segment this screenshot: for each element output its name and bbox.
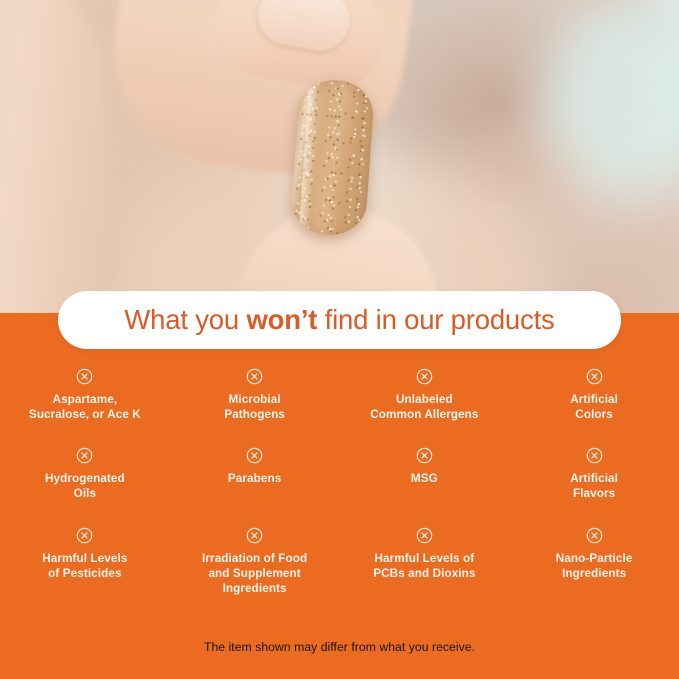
headline-part-2: find in our products	[317, 304, 554, 335]
grid-item-pesticides: Harmful Levels of Pesticides	[0, 527, 170, 607]
grid-item-microbial-pathogens: Microbial Pathogens	[170, 368, 340, 447]
grid-row: Aspartame, Sucralose, or Ace K Microbial…	[0, 368, 679, 447]
circle-x-icon	[586, 368, 603, 385]
circle-x-icon	[246, 447, 263, 464]
disclaimer-text: The item shown may differ from what you …	[0, 640, 679, 654]
circle-x-icon	[246, 368, 263, 385]
circle-x-icon	[76, 447, 93, 464]
product-photo	[0, 0, 679, 313]
circle-x-icon	[76, 368, 93, 385]
grid-row: Harmful Levels of Pesticides Irradiation…	[0, 527, 679, 607]
grid-item-label: Artificial Flavors	[570, 472, 618, 502]
grid-item-label: Nano-Particle Ingredients	[556, 552, 633, 582]
grid-item-label: Parabens	[228, 472, 281, 487]
grid-item-label: Harmful Levels of Pesticides	[42, 552, 127, 582]
grid-item-parabens: Parabens	[170, 447, 340, 527]
circle-x-icon	[76, 527, 93, 544]
product-infographic: What you won’t find in our products Aspa…	[0, 0, 679, 679]
grid-item-artificial-colors: Artificial Colors	[509, 368, 679, 447]
grid-item-label: Aspartame, Sucralose, or Ace K	[29, 393, 141, 423]
grid-item-aspartame: Aspartame, Sucralose, or Ace K	[0, 368, 170, 447]
supplement-tablet	[290, 78, 376, 238]
grid-item-label: Microbial Pathogens	[224, 393, 285, 423]
grid-item-irradiation: Irradiation of Food and Supplement Ingre…	[170, 527, 340, 607]
grid-item-label: Harmful Levels of PCBs and Dioxins	[373, 552, 475, 582]
grid-item-label: Irradiation of Food and Supplement Ingre…	[202, 552, 307, 597]
headline-emphasis: won’t	[246, 304, 317, 335]
grid-item-msg: MSG	[340, 447, 510, 527]
grid-item-label: MSG	[411, 472, 438, 487]
grid-item-nano-particle: Nano-Particle Ingredients	[509, 527, 679, 607]
circle-x-icon	[586, 447, 603, 464]
grid-item-artificial-flavors: Artificial Flavors	[509, 447, 679, 527]
circle-x-icon	[416, 368, 433, 385]
circle-x-icon	[586, 527, 603, 544]
grid-item-label: Hydrogenated Oils	[45, 472, 125, 502]
excluded-ingredients-grid: Aspartame, Sucralose, or Ace K Microbial…	[0, 368, 679, 607]
circle-x-icon	[416, 527, 433, 544]
grid-item-pcbs-dioxins: Harmful Levels of PCBs and Dioxins	[340, 527, 510, 607]
grid-item-label: Unlabeled Common Allergens	[370, 393, 478, 423]
grid-item-unlabeled-allergens: Unlabeled Common Allergens	[340, 368, 510, 447]
headline-text: What you won’t find in our products	[124, 306, 554, 334]
grid-row: Hydrogenated Oils Parabens MSG	[0, 447, 679, 527]
grid-item-hydrogenated-oils: Hydrogenated Oils	[0, 447, 170, 527]
headline-banner: What you won’t find in our products	[58, 291, 621, 349]
headline-part-1: What you	[124, 304, 246, 335]
circle-x-icon	[246, 527, 263, 544]
grid-item-label: Artificial Colors	[570, 393, 618, 423]
knuckle-crease	[0, 31, 8, 185]
circle-x-icon	[416, 447, 433, 464]
